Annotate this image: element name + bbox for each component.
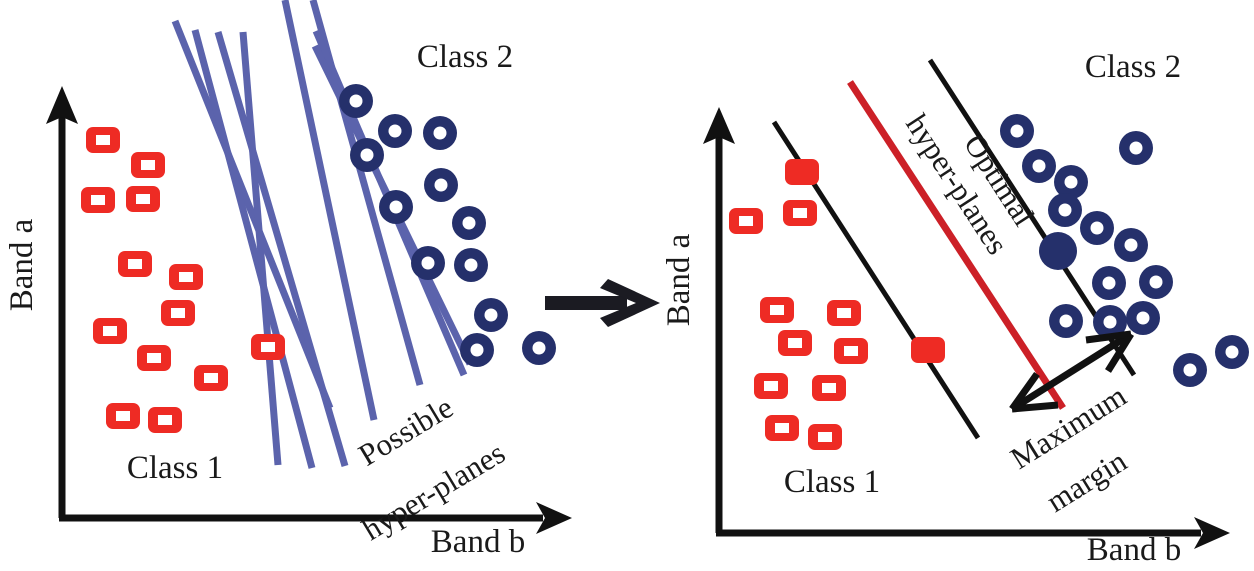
right-class2-label: Class 2 — [1085, 49, 1181, 85]
right-panel: Band a Band b Class 1 Class 2 Optimal hy… — [661, 49, 1249, 568]
transition-arrow — [545, 279, 660, 327]
right-y-axis-label: Band a — [661, 233, 697, 326]
left-y-axis-label: Band a — [4, 218, 40, 311]
right-y-axis — [703, 107, 735, 533]
left-class2-label: Class 2 — [417, 39, 513, 75]
right-class2-support-vectors — [1039, 232, 1077, 270]
right-x-axis-label: Band b — [1087, 532, 1181, 568]
left-x-axis-label: Band b — [431, 524, 525, 560]
left-panel: Band a Band b Class 1 Class 2 Possible h… — [4, 0, 572, 560]
right-class1-label: Class 1 — [784, 464, 880, 500]
left-class1-label: Class 1 — [127, 450, 223, 486]
svm-figure: Band a Band b Class 1 Class 2 Possible h… — [0, 0, 1254, 571]
left-y-axis — [46, 86, 78, 518]
